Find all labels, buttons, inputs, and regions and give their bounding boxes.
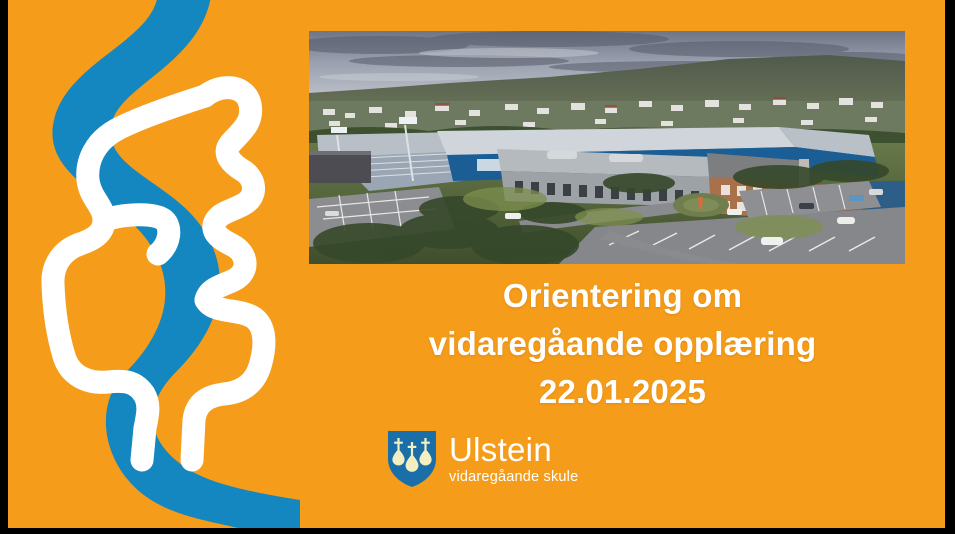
title-line-2: vidaregåande opplæring [300, 320, 945, 368]
logo-subtitle: vidaregåande skule [449, 468, 578, 486]
title-line-3: 22.01.2025 [300, 368, 945, 416]
logo-wordmark: Ulstein vidaregåande skule [449, 433, 578, 486]
photo-roundabout [673, 193, 729, 217]
campus-aerial-photo [309, 31, 905, 264]
blue-wave-shape [52, 0, 300, 528]
title-line-1: Orientering om [300, 272, 945, 320]
shield-icon [386, 429, 438, 489]
ulstein-school-logo: Ulstein vidaregåande skule [386, 429, 578, 489]
slide-title: Orientering om vidaregåande opplæring 22… [300, 272, 945, 416]
presentation-slide: Orientering om vidaregåande opplæring 22… [0, 0, 955, 534]
decorative-graphic [8, 0, 300, 528]
logo-name: Ulstein [449, 433, 578, 466]
slide-canvas: Orientering om vidaregåande opplæring 22… [8, 0, 945, 528]
